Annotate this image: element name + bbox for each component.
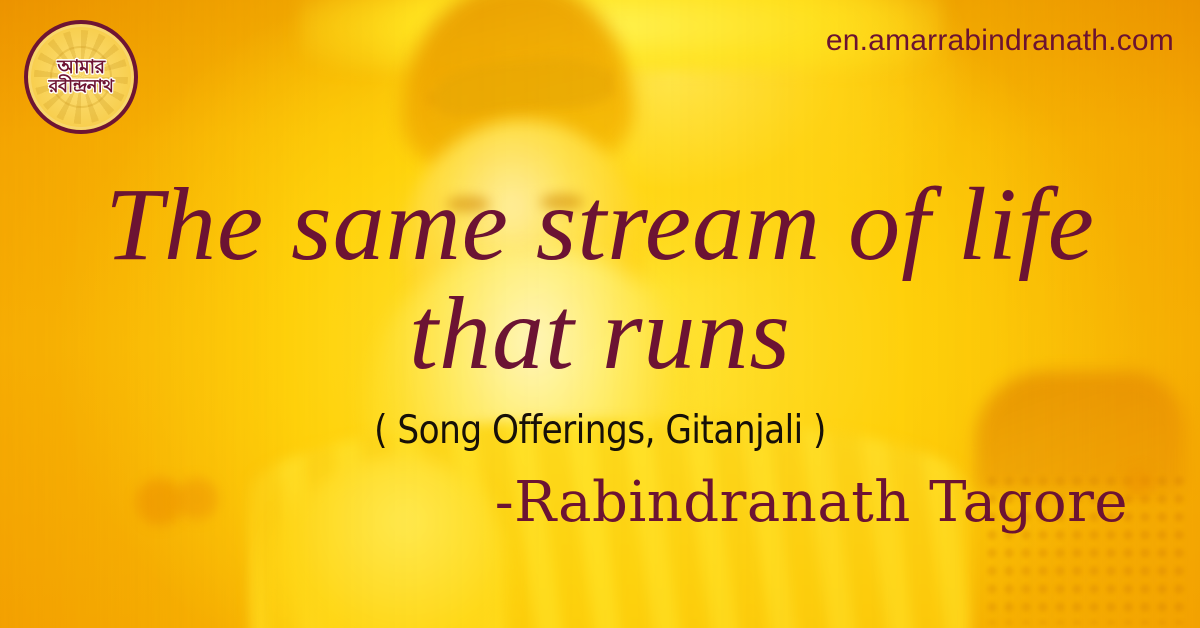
logo-text-line2: রবীন্দ্রনাথ [49,78,114,97]
quote-author: -Rabindranath Tagore [495,470,1128,535]
logo-text: আমার রবীন্দ্রনাথ [49,58,114,96]
quote-line-2: that runs [0,282,1200,386]
quote-line-1: The same stream of life [0,172,1200,278]
quote-card: আমার রবীন্দ্রনাথ en.amarrabindranath.com… [0,0,1200,628]
quote-text: The same stream of life that runs [0,172,1200,386]
site-url[interactable]: en.amarrabindranath.com [826,24,1174,58]
site-logo-badge[interactable]: আমার রবীন্দ্রনাথ [24,20,138,134]
quote-source: ( Song Offerings, Gitanjali ) [72,408,1128,453]
logo-text-line1: আমার [57,56,104,78]
